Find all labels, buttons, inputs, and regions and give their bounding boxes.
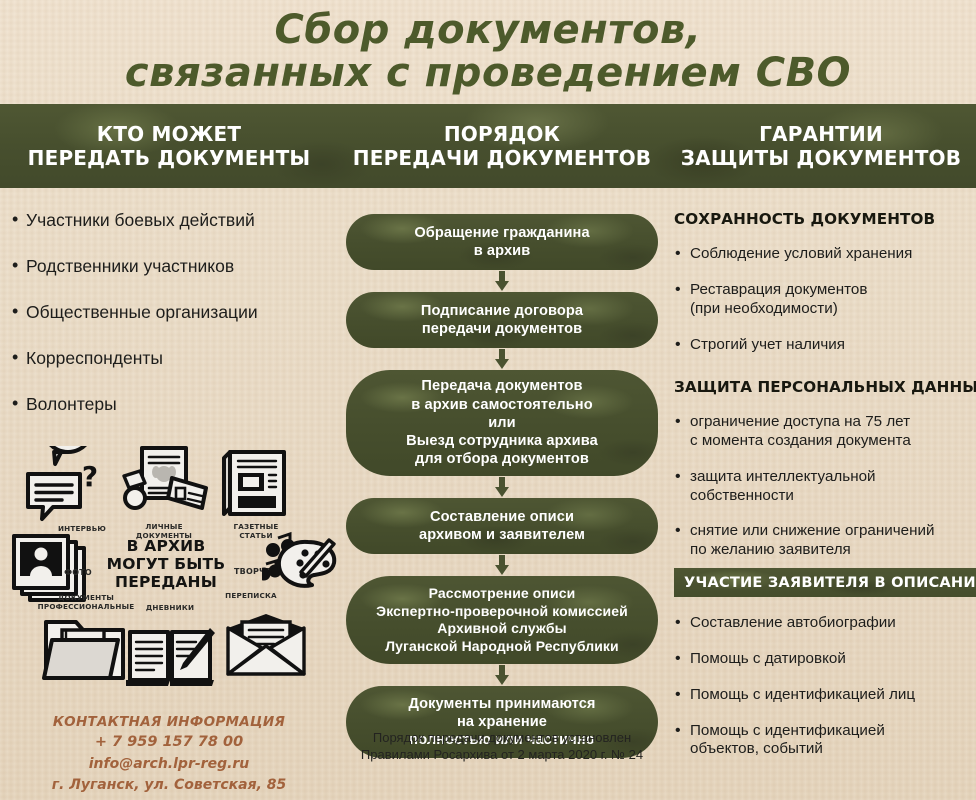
list-item: • Составление автобиографии <box>674 614 976 633</box>
label-photo: ФОТО <box>62 568 94 578</box>
title-line-2: связанных с проведением СВО <box>125 53 851 94</box>
interview-speech-bubble-icon: ? <box>22 446 126 529</box>
list-item: • Реставрация документов (при необходимо… <box>674 281 976 319</box>
column-header-who-line1: КТО МОЖЕТ <box>97 122 241 146</box>
contact-information: КОНТАКТНАЯ ИНФОРМАЦИЯ + 7 959 157 78 00 … <box>0 712 338 796</box>
flow-arrow-down-icon <box>346 270 658 292</box>
section-heading-applicant-participation: УЧАСТИЕ ЗАЯВИТЕЛЯ В ОПИСАНИИ <box>674 568 976 597</box>
bullet-icon: • <box>675 521 681 541</box>
list-item-label: Общественные организации <box>26 302 258 322</box>
flow-step-1: Обращение гражданина в архив <box>346 214 658 270</box>
list-item: • Участники боевых действий <box>0 210 338 231</box>
bullet-icon: • <box>12 347 18 369</box>
contact-address: г. Луганск, ул. Советская, 85 <box>0 775 338 796</box>
bullet-icon: • <box>675 335 681 355</box>
contact-email[interactable]: info@arch.lpr-reg.ru <box>0 754 338 775</box>
flowchart-legal-note-line1: Порядок передачи документов установлен <box>348 729 656 746</box>
bullet-icon: • <box>12 393 18 415</box>
column-who-can-transfer: • Участники боевых действий • Родственни… <box>0 188 338 800</box>
column-header-procedure: ПОРЯДОК ПЕРЕДАЧИ ДОКУМЕНТОВ <box>338 104 666 188</box>
list-item-label: защита интеллектуальной собственности <box>690 468 876 504</box>
list-item: • Волонтеры <box>0 394 338 415</box>
list-item-label: ограничение доступа на 75 лет с момента … <box>690 413 911 449</box>
flow-arrow-down-icon <box>346 476 658 498</box>
list-item-label: Реставрация документов (при необходимост… <box>690 281 867 317</box>
section-heading-preservation: СОХРАННОСТЬ ДОКУМЕНТОВ <box>674 210 976 228</box>
transfer-flowchart: Обращение гражданина в архив Подписание … <box>346 214 658 758</box>
bullet-icon: • <box>675 467 681 487</box>
list-item-label: Соблюдение условий хранения <box>690 245 912 262</box>
infographic-page: Сбор документов, связанных с проведением… <box>0 0 976 800</box>
contact-phone[interactable]: + 7 959 157 78 00 <box>0 732 338 754</box>
column-header-procedure-line1: ПОРЯДОК <box>444 122 560 146</box>
label-diaries: ДНЕВНИКИ <box>140 604 200 613</box>
flow-step-4: Составление описи архивом и заявителем <box>346 498 658 554</box>
list-item: • ограничение доступа на 75 лет с момент… <box>674 413 976 451</box>
bullet-icon: • <box>675 685 681 705</box>
flow-arrow-down-icon <box>346 664 658 686</box>
column-protection-guarantees: СОХРАННОСТЬ ДОКУМЕНТОВ • Соблюдение усло… <box>666 188 976 800</box>
archive-materials-collage: ? ИНТЕРВЬЮ <box>0 446 338 706</box>
column-transfer-procedure: Обращение гражданина в архив Подписание … <box>338 188 666 800</box>
bullet-icon: • <box>675 613 681 633</box>
bullet-icon: • <box>675 649 681 669</box>
content-columns: • Участники боевых действий • Родственни… <box>0 188 976 800</box>
bullet-icon: • <box>12 209 18 231</box>
title-line-1: Сбор документов, <box>275 10 702 51</box>
contact-heading: КОНТАКТНАЯ ИНФОРМАЦИЯ <box>0 712 338 732</box>
column-headers-band: КТО МОЖЕТ ПЕРЕДАТЬ ДОКУМЕНТЫ ПОРЯДОК ПЕР… <box>0 104 976 188</box>
section-personal-data-protection: ЗАЩИТА ПЕРСОНАЛЬНЫХ ДАННЫХ • ограничение… <box>674 378 976 560</box>
open-book-icon <box>124 626 218 695</box>
flow-step-5: Рассмотрение описи Экспертно-проверочной… <box>346 576 658 664</box>
flowchart-legal-note-line2: Правилами Росархива от 2 марта 2020 г. №… <box>348 746 656 763</box>
section-applicant-participation: УЧАСТИЕ ЗАЯВИТЕЛЯ В ОПИСАНИИ • Составлен… <box>674 568 976 759</box>
bullet-icon: • <box>675 244 681 264</box>
label-correspondence: ПЕРЕПИСКА <box>216 592 286 601</box>
list-item: • Общественные организации <box>0 302 338 323</box>
list-item-label: Строгий учет наличия <box>690 336 845 353</box>
column-header-guarantees: ГАРАНТИИ ЗАЩИТЫ ДОКУМЕНТОВ <box>666 104 976 188</box>
list-item: • Соблюдение условий хранения <box>674 245 976 264</box>
bullet-icon: • <box>12 301 18 323</box>
list-item: • Корреспонденты <box>0 348 338 369</box>
list-item-label: Корреспонденты <box>26 348 163 368</box>
flow-step-3: Передача документов в архив самостоятель… <box>346 370 658 476</box>
flow-step-4-label: Составление описи архивом и заявителем <box>419 508 585 544</box>
svg-text:?: ? <box>82 460 98 493</box>
envelope-icon <box>224 612 308 683</box>
flow-step-3-label: Передача документов в архив самостоятель… <box>406 377 598 468</box>
flow-step-2-label: Подписание договора передачи документов <box>421 302 583 338</box>
section-document-preservation: СОХРАННОСТЬ ДОКУМЕНТОВ • Соблюдение усло… <box>674 210 976 354</box>
list-item-label: Помощь с датировкой <box>690 650 846 667</box>
page-title: Сбор документов, связанных с проведением… <box>0 0 976 104</box>
personal-documents-icon <box>118 444 212 527</box>
bullet-icon: • <box>12 255 18 277</box>
flowchart-legal-note: Порядок передачи документов установлен П… <box>348 729 656 763</box>
list-item: • снятие или снижение ограничений по жел… <box>674 522 976 560</box>
list-item-label: Участники боевых действий <box>26 210 255 230</box>
list-item-label: Составление автобиографии <box>690 614 896 631</box>
flow-arrow-down-icon <box>346 554 658 576</box>
folder-documents-icon <box>40 614 130 691</box>
flow-step-5-label: Рассмотрение описи Экспертно-проверочной… <box>376 585 628 655</box>
list-item: • Строгий учет наличия <box>674 336 976 355</box>
collage-center-caption: В АРХИВ МОГУТ БЫТЬ ПЕРЕДАНЫ <box>96 538 236 592</box>
list-item: • Родственники участников <box>0 256 338 277</box>
column-header-guarantees-line2: ЗАЩИТЫ ДОКУМЕНТОВ <box>681 146 961 170</box>
list-item-label: Родственники участников <box>26 256 234 276</box>
collage-caption-line1: В АРХИВ <box>96 538 236 556</box>
column-header-who-line2: ПЕРЕДАТЬ ДОКУМЕНТЫ <box>28 146 311 170</box>
list-item-label: Помощь с идентификацией лиц <box>690 686 915 703</box>
list-item: • Помощь с датировкой <box>674 650 976 669</box>
flow-step-1-label: Обращение гражданина в архив <box>414 224 589 260</box>
list-item-label: Волонтеры <box>26 394 117 414</box>
column-header-procedure-line2: ПЕРЕДАЧИ ДОКУМЕНТОВ <box>353 146 651 170</box>
flow-step-2: Подписание договора передачи документов <box>346 292 658 348</box>
collage-caption-line2: МОГУТ БЫТЬ <box>96 556 236 574</box>
list-item: • Помощь с идентификацией объектов, собы… <box>674 722 976 760</box>
bullet-icon: • <box>675 280 681 300</box>
column-header-guarantees-line1: ГАРАНТИИ <box>759 122 883 146</box>
bullet-icon: • <box>675 412 681 432</box>
who-can-transfer-list: • Участники боевых действий • Родственни… <box>0 210 338 440</box>
newspaper-article-icon <box>218 448 292 527</box>
list-item-label: Помощь с идентификацией объектов, событи… <box>690 722 885 758</box>
section-heading-personal-data: ЗАЩИТА ПЕРСОНАЛЬНЫХ ДАННЫХ <box>674 378 976 396</box>
list-item-label: снятие или снижение ограничений по желан… <box>690 522 934 558</box>
bullet-icon: • <box>675 721 681 741</box>
list-item: • защита интеллектуальной собственности <box>674 468 976 506</box>
collage-caption-line3: ПЕРЕДАНЫ <box>96 574 236 592</box>
column-header-who: КТО МОЖЕТ ПЕРЕДАТЬ ДОКУМЕНТЫ <box>0 104 338 188</box>
flow-arrow-down-icon <box>346 348 658 370</box>
list-item: • Помощь с идентификацией лиц <box>674 686 976 705</box>
label-professional-documents-line2: ПРОФЕССИОНАЛЬНЫЕ <box>36 603 136 612</box>
